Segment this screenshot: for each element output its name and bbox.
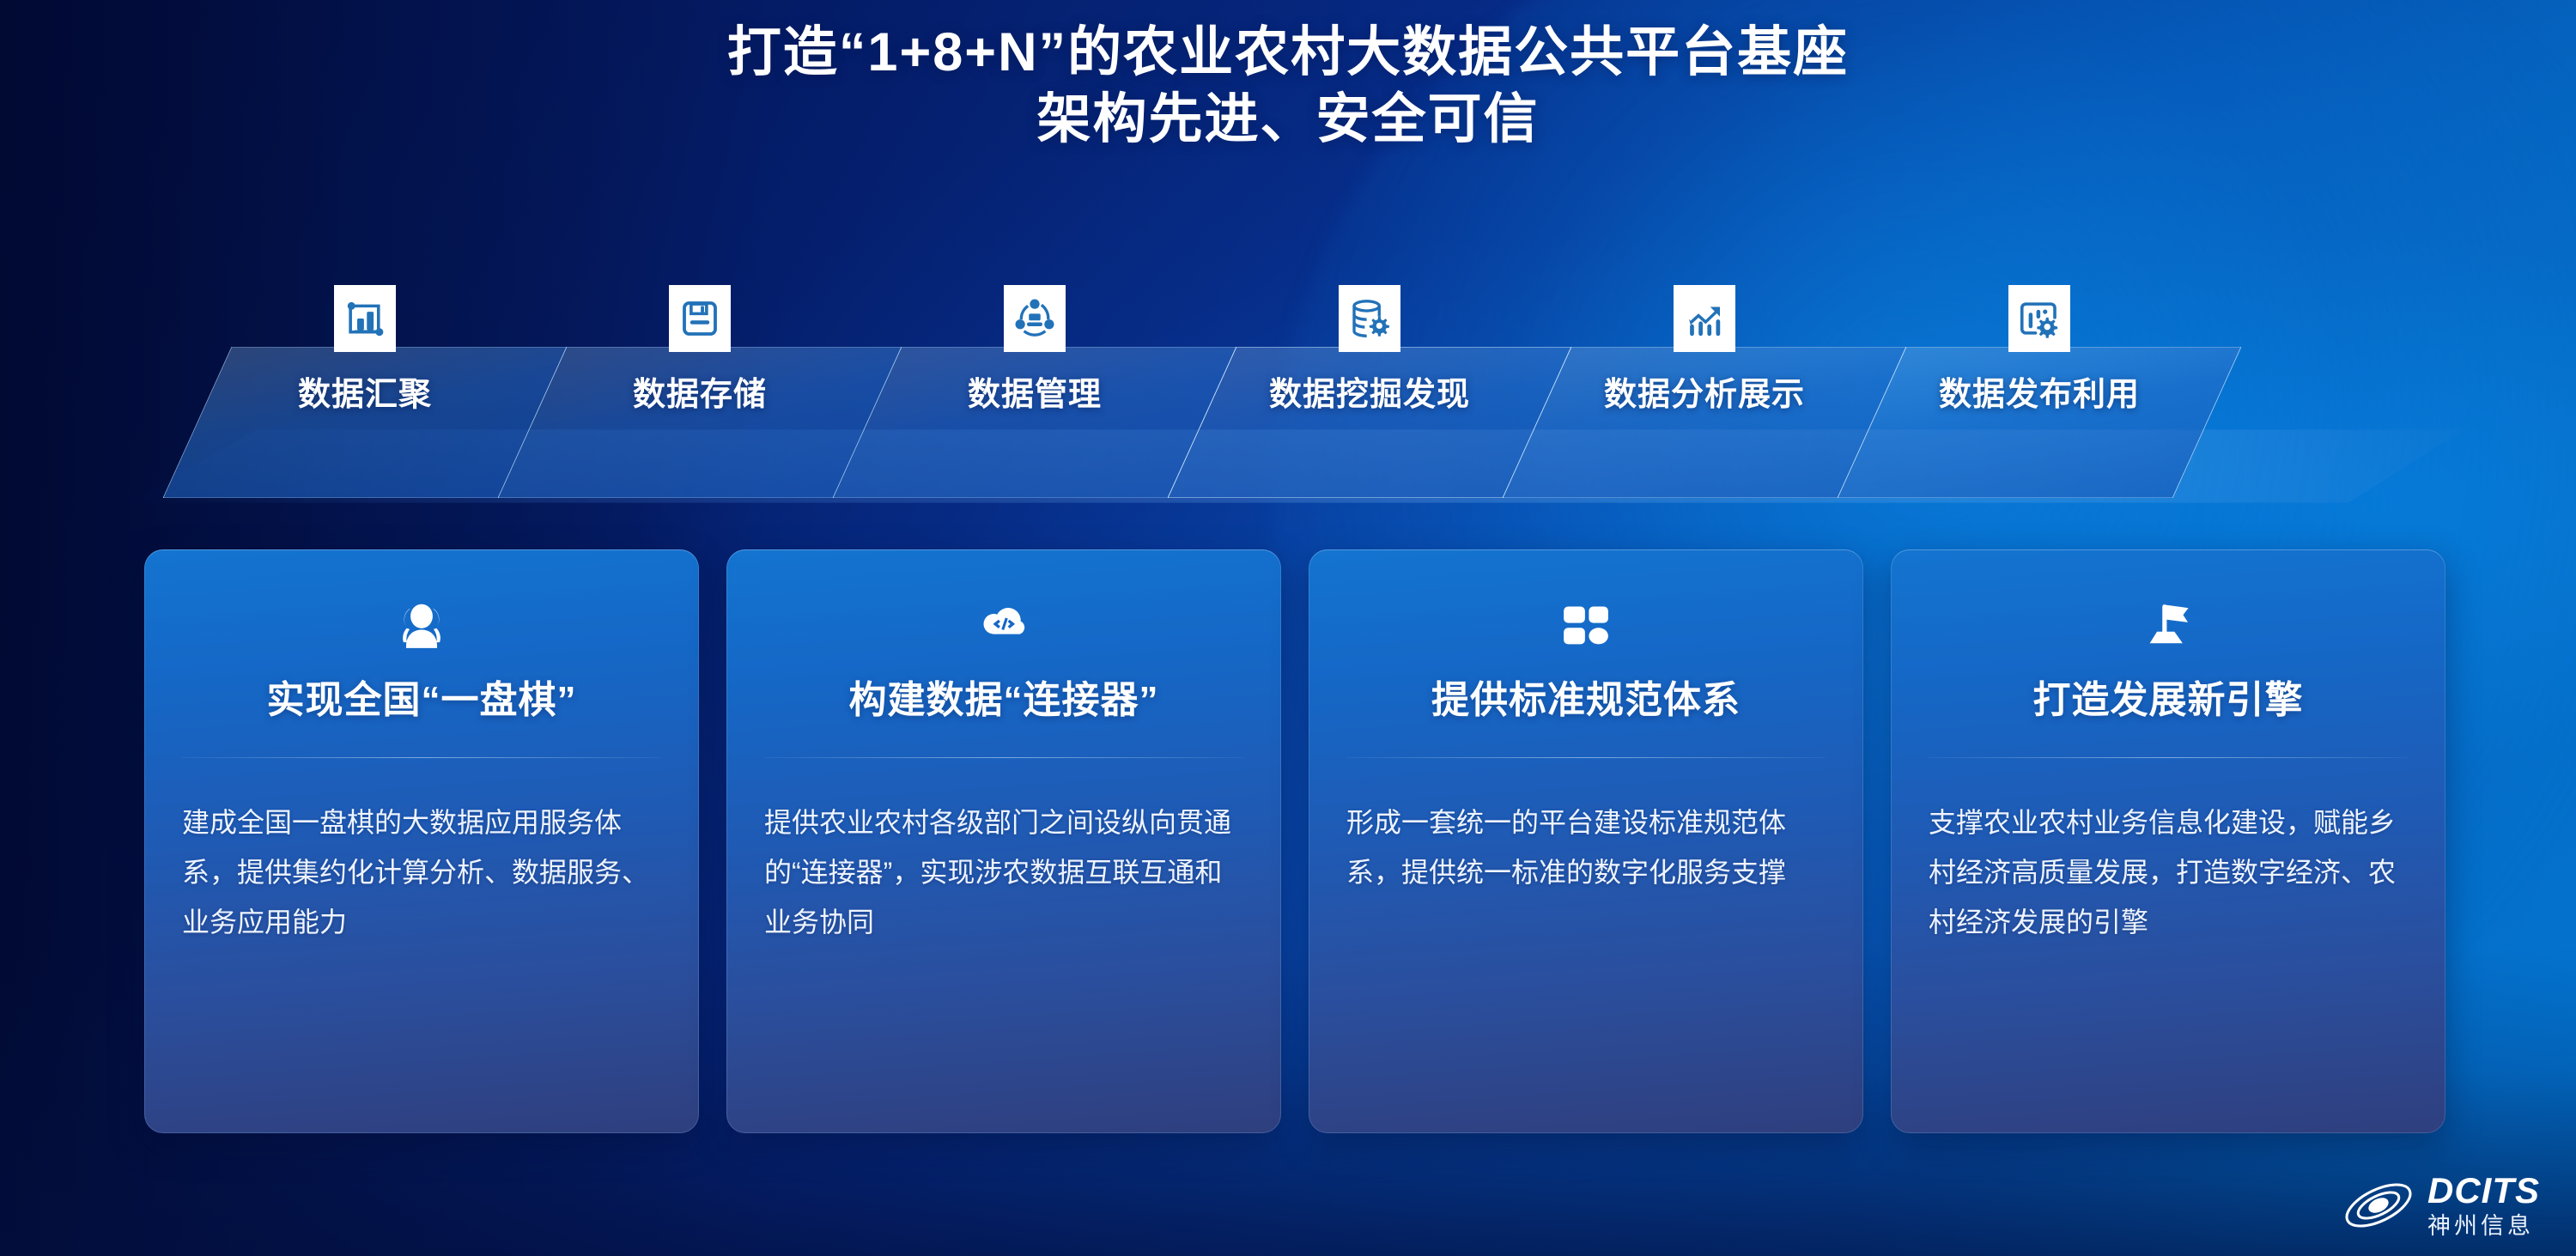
logo-name-cn: 神州信息 xyxy=(2427,1215,2540,1238)
people-group-icon xyxy=(391,589,453,663)
stage-label: 数据分析展示 xyxy=(1604,367,1805,415)
feature-card-2[interactable]: 提供标准规范体系 形成一套统一的平台建设标准规范体系，提供统一标准的数字化服务支… xyxy=(1309,549,1863,1133)
card-title: 构建数据“连接器” xyxy=(849,677,1159,725)
card-body: 支撑农业农村业务信息化建设，赋能乡村经济高质量发展，打造数字经济、农村经济发展的… xyxy=(1929,798,2408,947)
card-divider xyxy=(1929,757,2408,758)
card-title: 打造发展新引擎 xyxy=(2033,677,2304,725)
dcits-swirl-icon xyxy=(2342,1172,2415,1239)
page-title: 打造“1+8+N”的农业农村大数据公共平台基座 架构先进、安全可信 xyxy=(0,19,2576,153)
trend-chart-icon xyxy=(1674,285,1735,352)
card-divider xyxy=(764,757,1243,758)
stage-label: 数据汇聚 xyxy=(298,367,432,415)
data-lifecycle-ribbon: 数据汇聚 数据存储 xyxy=(0,285,2576,510)
panel-gear-icon xyxy=(2008,285,2070,352)
title-line-2: 架构先进、安全可信 xyxy=(0,86,2576,153)
feature-card-3[interactable]: 打造发展新引擎 支撑农业农村业务信息化建设，赋能乡村经济高质量发展，打造数字经济… xyxy=(1891,549,2445,1133)
flag-icon xyxy=(2137,589,2199,663)
bar-chart-frame-icon xyxy=(334,285,396,352)
floppy-disk-icon xyxy=(669,285,731,352)
feature-card-0[interactable]: 实现全国“一盘棋” 建成全国一盘棋的大数据应用服务体系，提供集约化计算分析、数据… xyxy=(144,549,699,1133)
logo-text-block: DCITS 神州信息 xyxy=(2427,1173,2540,1238)
logo-name-en: DCITS xyxy=(2427,1173,2540,1209)
card-body: 建成全国一盘棋的大数据应用服务体系，提供集约化计算分析、数据服务、业务应用能力 xyxy=(182,798,661,947)
card-body: 形成一套统一的平台建设标准规范体系，提供统一标准的数字化服务支撑 xyxy=(1346,798,1826,897)
company-logo: DCITS 神州信息 xyxy=(2342,1172,2540,1239)
card-body: 提供农业农村各级部门之间设纵向贯通的“连接器”，实现涉农数据互联互通和业务协同 xyxy=(764,798,1243,947)
title-line-1: 打造“1+8+N”的农业农村大数据公共平台基座 xyxy=(0,19,2576,86)
feature-card-list: 实现全国“一盘棋” 建成全国一盘棋的大数据应用服务体系，提供集约化计算分析、数据… xyxy=(144,549,2445,1133)
cloud-code-icon xyxy=(973,589,1035,663)
card-divider xyxy=(182,757,661,758)
card-title: 实现全国“一盘棋” xyxy=(267,677,577,725)
card-divider xyxy=(1346,757,1826,758)
database-gear-icon xyxy=(1339,285,1400,352)
stage-label: 数据管理 xyxy=(968,367,1102,415)
four-blocks-icon xyxy=(1555,589,1617,663)
network-nodes-icon xyxy=(1004,285,1066,352)
card-title: 提供标准规范体系 xyxy=(1431,677,1741,725)
feature-card-1[interactable]: 构建数据“连接器” 提供农业农村各级部门之间设纵向贯通的“连接器”，实现涉农数据… xyxy=(726,549,1281,1133)
stage-label: 数据存储 xyxy=(633,367,767,415)
stage-label: 数据发布利用 xyxy=(1939,367,2140,415)
stage-label: 数据挖掘发现 xyxy=(1269,367,1470,415)
stage-item-5[interactable]: 数据发布利用 xyxy=(1838,285,2241,510)
